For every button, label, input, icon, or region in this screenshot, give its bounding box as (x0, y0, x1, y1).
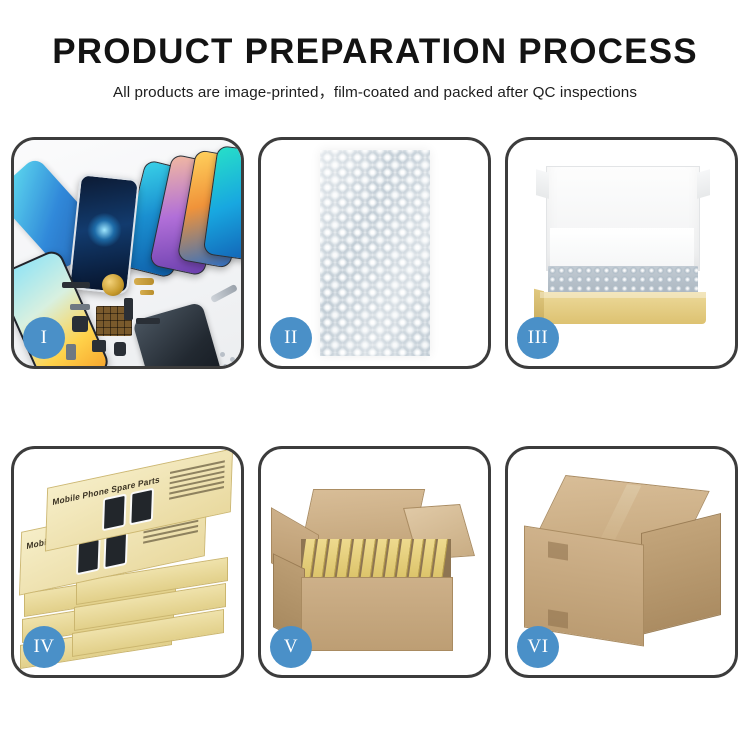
step-panel-6: VI (505, 446, 738, 678)
plastic-sheen-overlay (320, 150, 430, 356)
step-panel-2: II (258, 137, 491, 369)
step-badge-3: III (517, 317, 559, 359)
bubble-wrap-sleeve-icon (320, 150, 430, 356)
vibration-motor-icon (114, 342, 126, 356)
step-badge-4: IV (23, 626, 65, 668)
open-box-icon (532, 166, 714, 336)
screws-group-icon (220, 352, 241, 366)
bracket-icon (70, 304, 90, 310)
page-title: PRODUCT PREPARATION PROCESS (0, 34, 750, 71)
antenna-flex-icon (136, 318, 160, 324)
header: PRODUCT PREPARATION PROCESS All products… (0, 0, 750, 102)
carton-handle-tab-bottom (548, 609, 568, 628)
page-subtitle: All products are image-printed，film-coat… (0, 80, 750, 102)
gold-contact-icon (140, 290, 154, 295)
step-panel-5: V (258, 446, 491, 678)
gold-connector-icon (134, 278, 154, 285)
flex-cable-icon (62, 282, 90, 288)
infographic-page: PRODUCT PREPARATION PROCESS All products… (0, 0, 750, 750)
box-phone-graphic-b-upper (129, 488, 154, 526)
step-badge-5: V (270, 626, 312, 668)
step-panel-1: I (11, 137, 244, 369)
step-badge-2: II (270, 317, 312, 359)
small-flex-icon (124, 298, 133, 320)
step-badge-6: VI (517, 626, 559, 668)
wireless-charging-coil-icon (102, 274, 124, 296)
camera-module-icon (72, 316, 88, 332)
box-phone-graphic-a-upper (102, 493, 127, 531)
process-steps-grid: I II III (11, 137, 739, 678)
carton-right-face (641, 513, 721, 635)
open-carton-icon (279, 477, 475, 653)
carton-contents-yellow-boxes (301, 539, 451, 581)
carton-front-face (301, 577, 453, 651)
sim-tray-icon (66, 344, 76, 360)
step-panel-4: Mobile Phone Spare Parts Mobile Phone Sp… (11, 446, 244, 678)
step-badge-1: I (23, 317, 65, 359)
kraft-box-tray (540, 292, 706, 324)
carton-handle-tab-top (548, 541, 568, 560)
speaker-icon (92, 340, 106, 352)
step-panel-3: III (505, 137, 738, 369)
sealed-carton-icon (522, 483, 722, 643)
